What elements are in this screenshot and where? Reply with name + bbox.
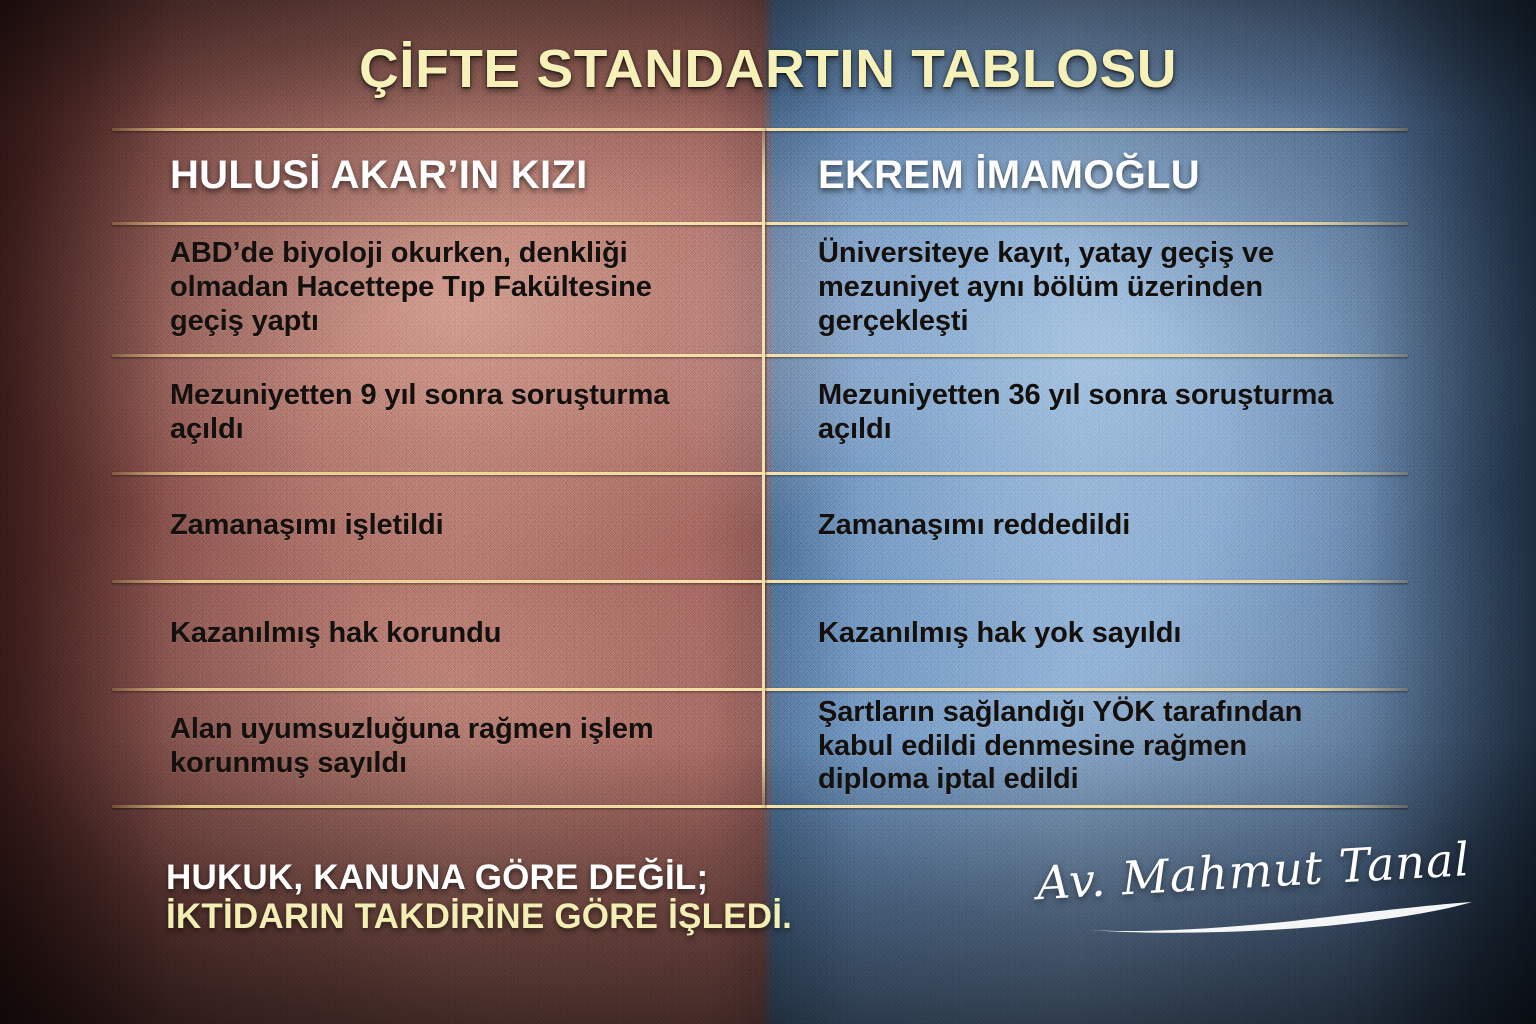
cell-text-left-3: Zamanaşımı işletildi xyxy=(170,509,444,543)
cell-text-right-2: Mezuniyetten 36 yıl sonra soruşturma açı… xyxy=(818,379,1352,447)
poster-root: ÇİFTE STANDARTIN TABLOSU HULUSİ AKAR’IN … xyxy=(0,0,1536,1024)
comparison-table: HULUSİ AKAR’IN KIZI EKREM İMAMOĞLU ABD’d… xyxy=(112,128,1408,808)
table-row: Mezuniyetten 9 yıl sonra soruşturma açıl… xyxy=(112,354,1408,472)
table-row: ABD’de biyoloji okurken, denkliği olmada… xyxy=(112,222,1408,354)
table-row: Zamanaşımı işletildi Zamanaşımı reddedil… xyxy=(112,472,1408,580)
header-cell-right: EKREM İMAMOĞLU xyxy=(760,128,1408,222)
column-header-left: HULUSİ AKAR’IN KIZI xyxy=(170,153,588,198)
page-title: ÇİFTE STANDARTIN TABLOSU xyxy=(0,38,1536,100)
cell-right-4: Kazanılmış hak yok sayıldı xyxy=(760,580,1408,688)
cell-left-2: Mezuniyetten 9 yıl sonra soruşturma açıl… xyxy=(112,354,760,472)
table-row: Kazanılmış hak korundu Kazanılmış hak yo… xyxy=(112,580,1408,688)
table-row: Alan uyumsuzluğuna rağmen işlem korunmuş… xyxy=(112,688,1408,805)
cell-text-right-4: Kazanılmış hak yok sayıldı xyxy=(818,617,1181,651)
cell-text-right-5: Şartların sağlandığı YÖK tarafından kabu… xyxy=(818,696,1352,798)
cell-text-left-1: ABD’de biyoloji okurken, denkliği olmada… xyxy=(170,237,704,339)
cell-text-left-5: Alan uyumsuzluğuna rağmen işlem korunmuş… xyxy=(170,713,704,781)
cell-right-2: Mezuniyetten 36 yıl sonra soruşturma açı… xyxy=(760,354,1408,472)
cell-text-left-2: Mezuniyetten 9 yıl sonra soruşturma açıl… xyxy=(170,379,704,447)
cell-right-1: Üniversiteye kayıt, yatay geçiş ve mezun… xyxy=(760,222,1408,354)
footer-slogan: HUKUK, KANUNA GÖRE DEĞİL; İKTİDARIN TAKD… xyxy=(166,858,792,936)
signature-underline-icon xyxy=(1086,900,1476,934)
cell-left-5: Alan uyumsuzluğuna rağmen işlem korunmuş… xyxy=(112,688,760,805)
cell-right-5: Şartların sağlandığı YÖK tarafından kabu… xyxy=(760,688,1408,805)
column-header-right: EKREM İMAMOĞLU xyxy=(818,153,1200,198)
divider-bottom xyxy=(112,805,1408,808)
cell-left-3: Zamanaşımı işletildi xyxy=(112,472,760,580)
signature-name: Av. Mahmut Tanal xyxy=(1035,832,1471,910)
table-header-row: HULUSİ AKAR’IN KIZI EKREM İMAMOĞLU xyxy=(112,128,1408,222)
cell-left-1: ABD’de biyoloji okurken, denkliği olmada… xyxy=(112,222,760,354)
cell-text-right-1: Üniversiteye kayıt, yatay geçiş ve mezun… xyxy=(818,237,1352,339)
poster-content: ÇİFTE STANDARTIN TABLOSU HULUSİ AKAR’IN … xyxy=(0,0,1536,1024)
footer-slogan-line-2: İKTİDARIN TAKDİRİNE GÖRE İŞLEDİ. xyxy=(166,897,792,936)
header-cell-left: HULUSİ AKAR’IN KIZI xyxy=(112,128,760,222)
signature-block: Av. Mahmut Tanal xyxy=(1080,828,1480,948)
cell-right-3: Zamanaşımı reddedildi xyxy=(760,472,1408,580)
cell-text-right-3: Zamanaşımı reddedildi xyxy=(818,509,1130,543)
cell-left-4: Kazanılmış hak korundu xyxy=(112,580,760,688)
footer-slogan-line-1: HUKUK, KANUNA GÖRE DEĞİL; xyxy=(166,858,792,897)
cell-text-left-4: Kazanılmış hak korundu xyxy=(170,617,501,651)
